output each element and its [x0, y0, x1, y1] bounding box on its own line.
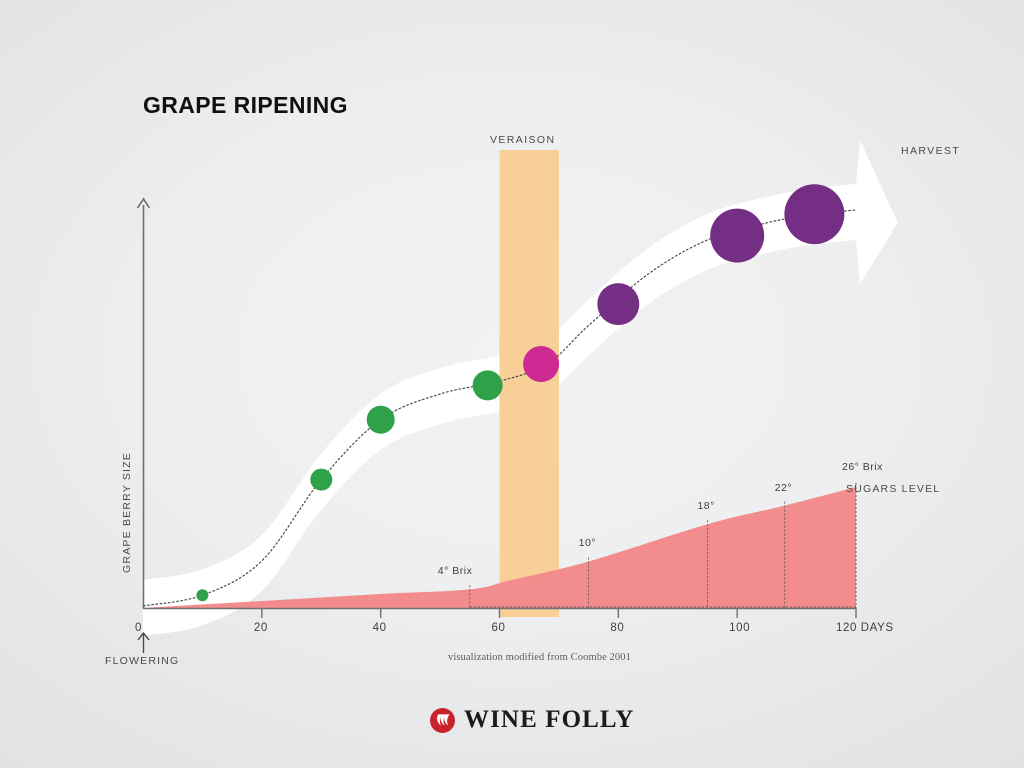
harvest-label: HARVEST [901, 145, 960, 157]
brix-annotation-label: 22° [775, 482, 792, 494]
x-axis-tick-label: 20 [254, 622, 268, 634]
flowering-arrow [138, 633, 149, 653]
berry-marker-veraison [523, 346, 559, 382]
berry-marker-harvest [784, 184, 844, 244]
berry-marker-ripening [597, 283, 639, 325]
berry-marker-ripening [710, 209, 764, 263]
berry-marker-green [367, 406, 395, 434]
x-axis-tick-label: 60 [492, 622, 506, 634]
x-axis-tick-label: 120 DAYS [836, 622, 894, 634]
berry-marker-green [196, 589, 208, 601]
infographic-canvas: GRAPE RIPENING VERAISON HARVEST SUGARS L… [0, 0, 1024, 768]
sugars-level-label: SUGARS LEVEL [846, 483, 940, 495]
y-axis-label: GRAPE BERRY SIZE [121, 452, 133, 573]
x-axis-tick-label: 0 [135, 622, 142, 634]
brix-annotation-label: 18° [697, 500, 714, 512]
wine-folly-wordmark: WINE FOLLY [464, 706, 635, 734]
x-axis-tick-label: 100 [729, 622, 750, 634]
brix-annotation-label: 4° Brix [438, 565, 473, 577]
veraison-label: VERAISON [490, 134, 555, 146]
wine-folly-mark-icon [430, 708, 455, 733]
x-axis-ticks [262, 608, 856, 618]
source-credit: visualization modified from Coombe 2001 [448, 652, 631, 663]
veraison-band [500, 150, 559, 617]
x-axis-tick-label: 80 [610, 622, 624, 634]
berry-marker-green [310, 469, 332, 491]
wine-folly-logo: WINE FOLLY [430, 706, 635, 734]
brix-annotation-label: 26° Brix [842, 461, 883, 473]
flowering-label: FLOWERING [105, 655, 179, 667]
x-axis-tick-label: 40 [373, 622, 387, 634]
brix-annotation-label: 10° [579, 537, 596, 549]
berry-marker-green [473, 370, 503, 400]
